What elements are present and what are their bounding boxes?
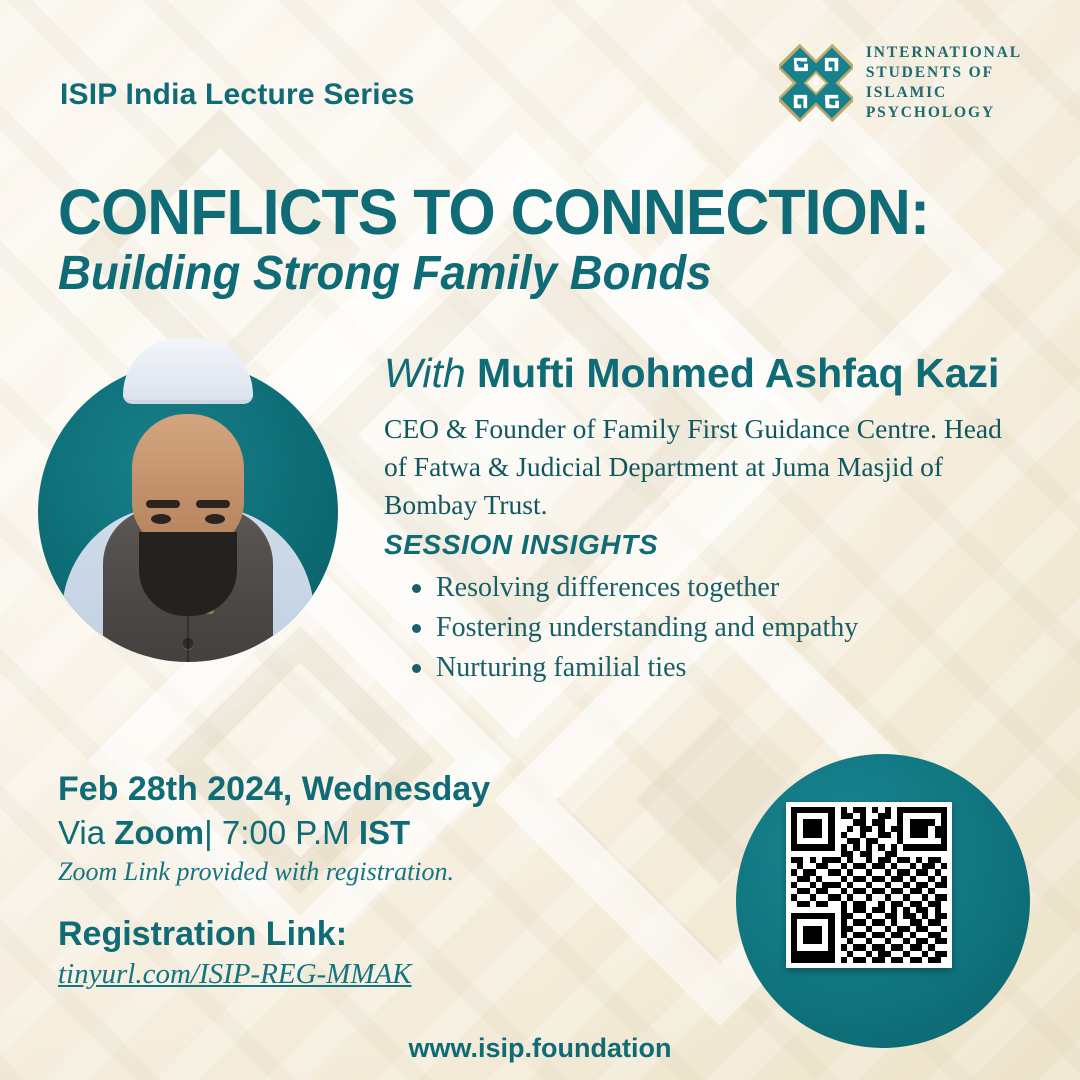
portrait-beard xyxy=(139,532,237,616)
event-time: 7:00 P.M xyxy=(222,814,359,851)
list-item: Nurturing familial ties xyxy=(406,648,858,688)
speaker-bio: CEO & Founder of Family First Guidance C… xyxy=(384,410,1004,524)
registration-heading: Registration Link: xyxy=(58,915,347,954)
session-insights-heading: SESSION INSIGHTS xyxy=(384,529,658,561)
poster-subtitle: Building Strong Family Bonds xyxy=(58,246,712,301)
speaker-name-line: With Mufti Mohmed Ashfaq Kazi xyxy=(384,350,999,397)
logo-line-1: INTERNATIONAL xyxy=(866,43,1022,63)
islamic-geometric-star-icon xyxy=(779,40,853,126)
speaker-portrait xyxy=(38,332,338,684)
poster-title: CONFLICTS TO CONNECTION: xyxy=(58,175,929,249)
event-date: Feb 28th 2024, Wednesday xyxy=(58,770,490,809)
registration-qr-code[interactable] xyxy=(786,802,952,968)
website-footer: www.isip.foundation xyxy=(0,1033,1080,1064)
qr-modules xyxy=(791,807,947,963)
via-label: Via xyxy=(58,814,114,851)
platform-name: Zoom xyxy=(114,814,204,851)
organisation-logo: INTERNATIONAL STUDENTS OF ISLAMIC PSYCHO… xyxy=(779,40,1022,126)
with-label: With xyxy=(384,350,477,396)
portrait-head xyxy=(132,414,244,550)
poster-canvas: ISIP India Lecture Series xyxy=(0,0,1080,1080)
session-insights-list: Resolving differences together Fostering… xyxy=(406,568,858,687)
logo-line-2: STUDENTS OF xyxy=(866,63,1022,83)
list-item: Fostering understanding and empathy xyxy=(406,608,858,648)
series-eyebrow: ISIP India Lecture Series xyxy=(60,78,415,112)
registration-link[interactable]: tinyurl.com/ISIP-REG-MMAK xyxy=(58,958,412,991)
logo-line-4: PSYCHOLOGY xyxy=(866,103,1022,123)
logo-wordmark: INTERNATIONAL STUDENTS OF ISLAMIC PSYCHO… xyxy=(866,43,1022,124)
portrait-circle-backdrop xyxy=(38,362,338,662)
event-timezone: IST xyxy=(359,814,410,851)
list-item: Resolving differences together xyxy=(406,568,858,608)
event-platform-time: Via Zoom| 7:00 P.M IST xyxy=(58,814,410,852)
speaker-name: Mufti Mohmed Ashfaq Kazi xyxy=(477,350,999,396)
zoom-link-note: Zoom Link provided with registration. xyxy=(58,857,454,887)
logo-line-3: ISLAMIC xyxy=(866,83,1022,103)
portrait-prayer-cap xyxy=(123,338,253,404)
separator: | xyxy=(204,814,222,851)
